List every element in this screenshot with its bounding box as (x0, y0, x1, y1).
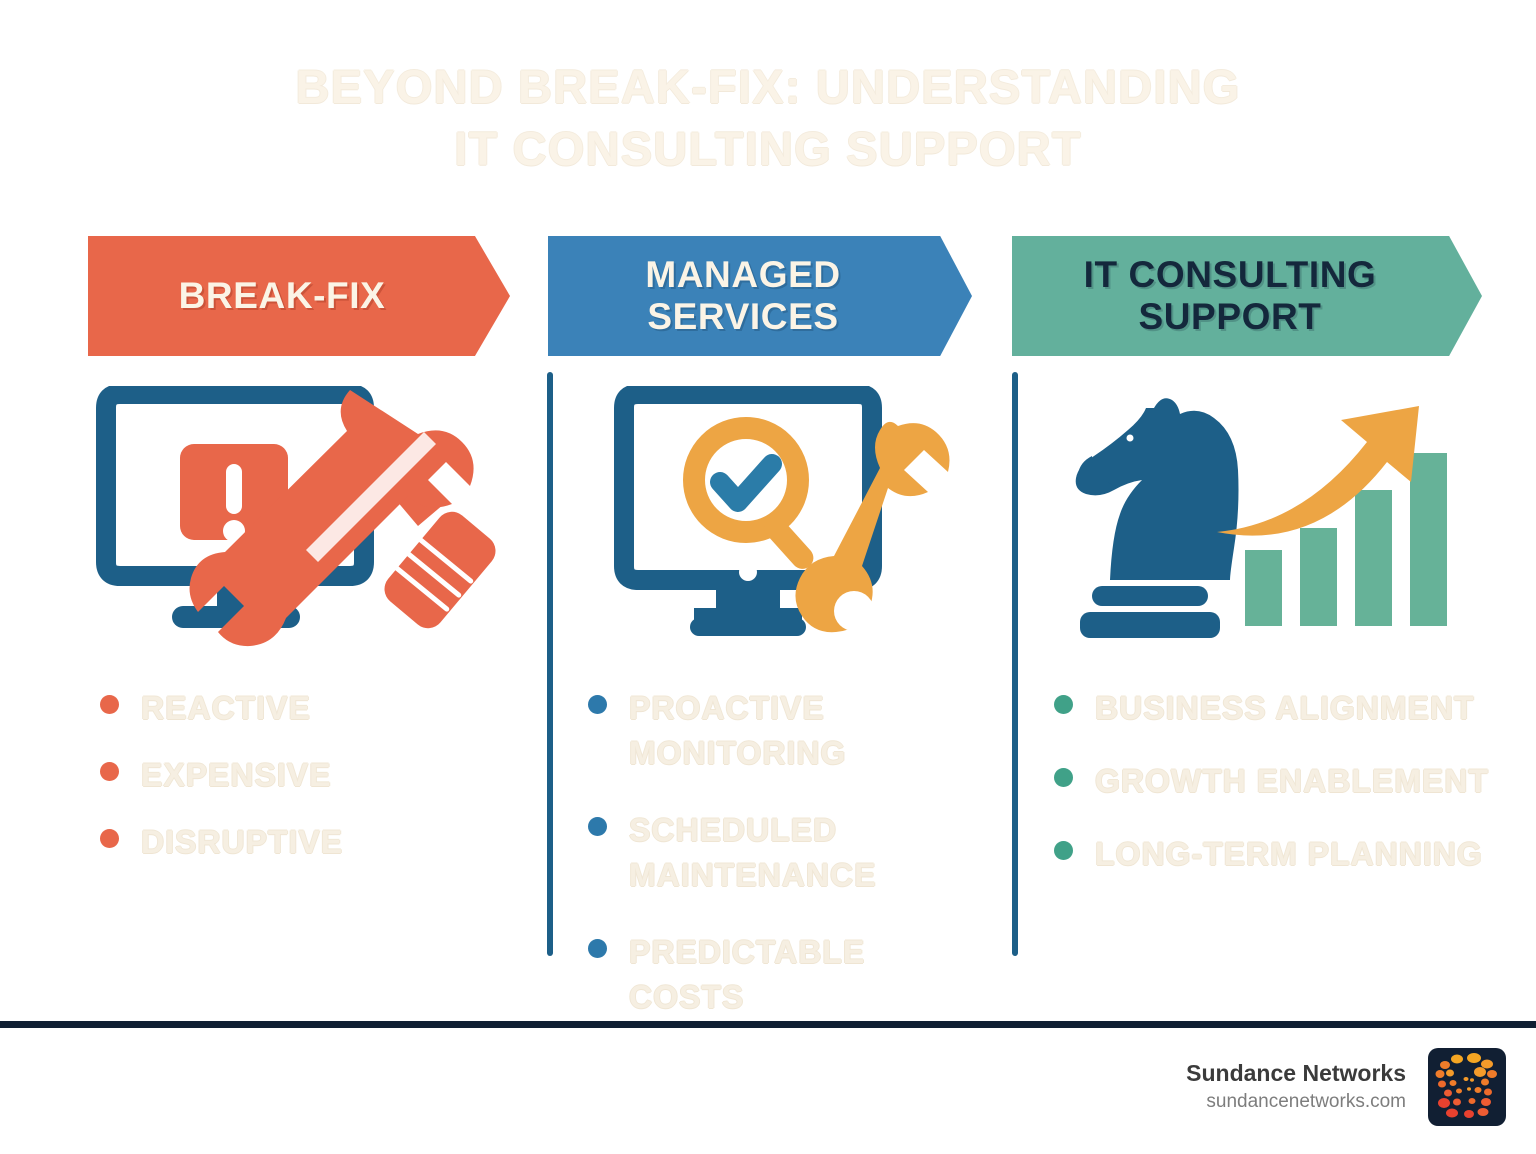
bullet-dot-icon (588, 939, 607, 958)
brand-name: Sundance Networks (1186, 1058, 1406, 1088)
bullet-dot-icon (1054, 841, 1073, 860)
bullet-label: PROACTIVE MONITORING (629, 686, 988, 776)
list-item: PROACTIVE MONITORING (588, 686, 988, 776)
monitor-alert-tools-icon (84, 386, 514, 656)
bullet-dot-icon (1054, 768, 1073, 787)
bullet-label: SCHEDULED MAINTENANCE (629, 808, 988, 898)
bullet-dot-icon (1054, 695, 1073, 714)
list-item: DISRUPTIVE (100, 820, 520, 865)
bullet-dot-icon (100, 762, 119, 781)
bullet-list-it-consulting-support: BUSINESS ALIGNMENT GROWTH ENABLEMENT LON… (1054, 686, 1514, 905)
banner-managed-services: MANAGED SERVICES (548, 236, 972, 356)
sundance-dots-logo (1428, 1048, 1506, 1126)
banner-label: BREAK-FIX (179, 275, 386, 317)
bullet-label: REACTIVE (141, 686, 311, 731)
bullet-label: LONG-TERM PLANNING (1095, 832, 1483, 877)
bullet-list-managed-services: PROACTIVE MONITORING SCHEDULED MAINTENAN… (588, 686, 988, 1052)
chess-knight-growth-chart-icon (1062, 386, 1462, 646)
bullet-label: BUSINESS ALIGNMENT (1095, 686, 1475, 731)
list-item: LONG-TERM PLANNING (1054, 832, 1514, 877)
list-item: EXPENSIVE (100, 753, 520, 798)
list-item: SCHEDULED MAINTENANCE (588, 808, 988, 898)
bullet-dot-icon (588, 817, 607, 836)
footer-divider (0, 1021, 1536, 1028)
column-divider-right (1012, 372, 1018, 956)
banner-label: IT CONSULTING SUPPORT (1084, 254, 1377, 338)
list-item: GROWTH ENABLEMENT (1054, 759, 1514, 804)
footer: Sundance Networks sundancenetworks.com (1186, 1048, 1506, 1126)
list-item: BUSINESS ALIGNMENT (1054, 686, 1514, 731)
footer-text-block: Sundance Networks sundancenetworks.com (1186, 1058, 1406, 1116)
bullet-list-break-fix: REACTIVE EXPENSIVE DISRUPTIVE (100, 686, 520, 887)
bullet-label: DISRUPTIVE (141, 820, 343, 865)
bullet-label: EXPENSIVE (141, 753, 331, 798)
banner-it-consulting-support: IT CONSULTING SUPPORT (1012, 236, 1482, 356)
list-item: PREDICTABLE COSTS (588, 930, 988, 1020)
bullet-dot-icon (100, 829, 119, 848)
list-item: REACTIVE (100, 686, 520, 731)
bullet-label: PREDICTABLE COSTS (629, 930, 988, 1020)
banner-label: MANAGED SERVICES (645, 254, 840, 338)
page-title: BEYOND BREAK-FIX: UNDERSTANDING IT CONSU… (0, 56, 1536, 180)
column-divider-left (547, 372, 553, 956)
monitor-magnifier-check-wrench-icon (606, 386, 1006, 656)
bullet-label: GROWTH ENABLEMENT (1095, 759, 1489, 804)
brand-url[interactable]: sundancenetworks.com (1186, 1088, 1406, 1116)
banner-break-fix: BREAK-FIX (88, 236, 510, 356)
bullet-dot-icon (100, 695, 119, 714)
bullet-dot-icon (588, 695, 607, 714)
